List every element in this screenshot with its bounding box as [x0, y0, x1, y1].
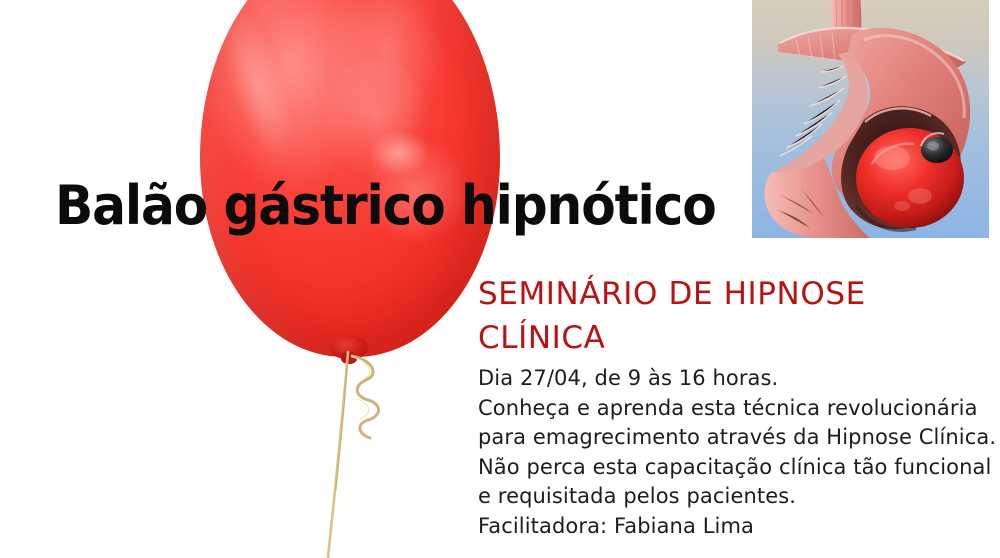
event-copy-block: SEMINÁRIO DE HIPNOSE CLÍNICA Dia 27/04, … — [478, 272, 993, 541]
event-details: Dia 27/04, de 9 às 16 horas. Conheça e a… — [478, 364, 993, 541]
balloon-string-icon — [300, 350, 430, 558]
balloon-specular-spot — [368, 130, 430, 176]
balloon-highlight-right — [320, 60, 430, 180]
balloon-knot — [330, 336, 368, 359]
detail-line-method: para emagrecimento através da Hipnose Cl… — [478, 423, 993, 453]
balloon-highlight-left — [210, 6, 306, 165]
detail-line-demand: e requisitada pelos pacientes. — [478, 482, 993, 512]
balloon-neck — [341, 352, 357, 364]
detail-line-date: Dia 27/04, de 9 às 16 horas. — [478, 364, 993, 394]
detail-line-intro: Conheça e aprenda esta técnica revolucio… — [478, 394, 993, 424]
detail-line-presenter: Facilitadora: Fabiana Lima — [478, 512, 993, 542]
detail-line-pitch: Não perca esta capacitação clínica tão f… — [478, 453, 993, 483]
event-headline: SEMINÁRIO DE HIPNOSE CLÍNICA — [478, 272, 993, 360]
stomach-illustration-graphic — [752, 0, 989, 238]
stomach-gastric-balloon-illustration — [752, 0, 989, 238]
poster-canvas: Balão gástrico hipnótico — [0, 0, 1000, 558]
red-party-balloon — [0, 0, 560, 558]
page-title: Balão gástrico hipnótico — [55, 176, 716, 236]
